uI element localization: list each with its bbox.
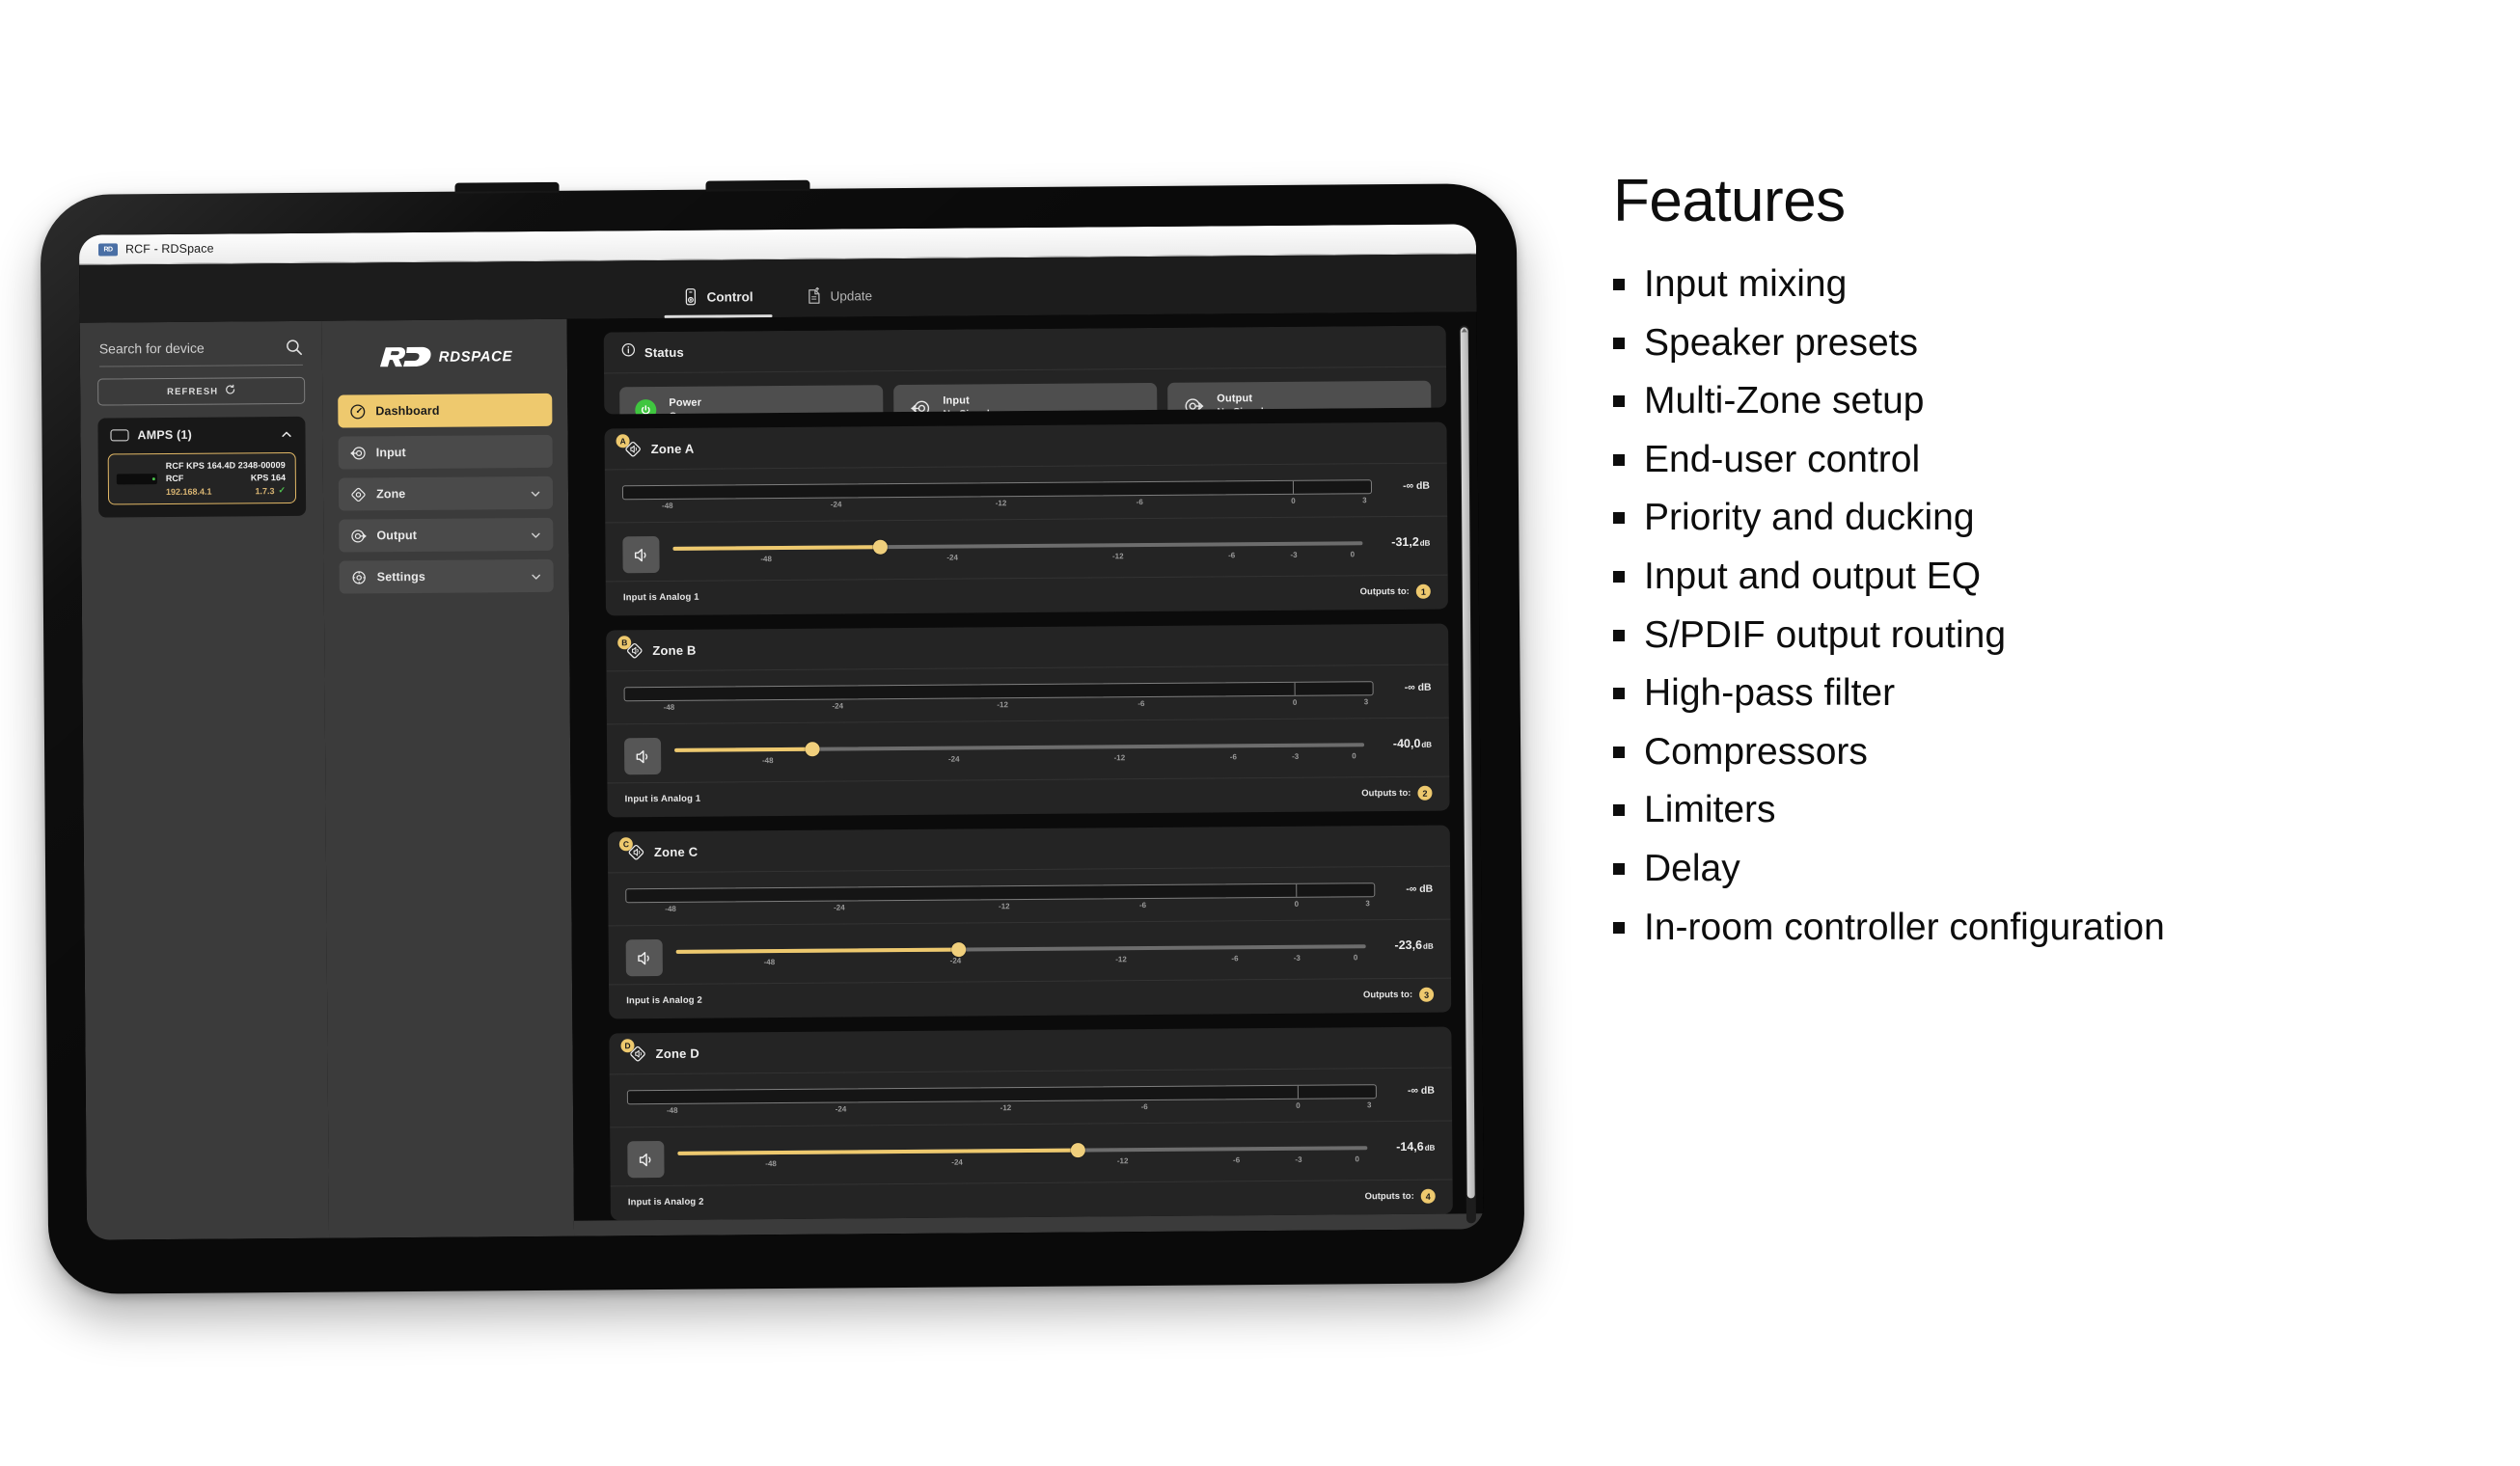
zone-volume-fill (674, 747, 812, 752)
zone-card-header: B Zone B (606, 624, 1448, 672)
features-list: Input mixing Speaker presets Multi-Zone … (1613, 264, 2481, 948)
rdspace-brand-logo: RDSPACE (338, 331, 552, 383)
slider-tick: -3 (1290, 551, 1297, 559)
feature-item-label: End-user control (1644, 440, 1920, 480)
slider-tick: -12 (1117, 1156, 1129, 1165)
feature-item-label: Compressors (1644, 732, 1868, 773)
zone-input-label: Input is Analog 2 (628, 1197, 704, 1208)
device-title: RCF KPS 164.4D 2348-00009 (166, 460, 286, 471)
amps-group-label: AMPS (1) (137, 427, 271, 442)
feature-item: High-pass filter (1613, 673, 2481, 714)
feature-item: Speaker presets (1613, 323, 2481, 364)
zone-volume-scale: -48-24-12-6-30 (673, 550, 1363, 570)
nav-item-output-label: Output (376, 528, 520, 542)
nav-item-output[interactable]: Output (339, 518, 553, 553)
feature-item: In-room controller configuration (1613, 908, 2481, 948)
zone-volume-knob[interactable] (806, 742, 820, 756)
feature-item-label: Multi-Zone setup (1644, 381, 1924, 421)
window-title: RCF - RDSpace (125, 242, 214, 257)
status-power-value: On (669, 411, 701, 415)
meter-tick: -24 (831, 501, 842, 509)
zone-output-badge: 4 (1421, 1189, 1436, 1204)
zone-meter: -48-24-12-603 (627, 1084, 1377, 1121)
meter-tick: 0 (1295, 900, 1300, 909)
bullet-icon (1613, 747, 1625, 758)
meter-tick: 3 (1362, 496, 1367, 504)
bullet-icon (1613, 688, 1625, 699)
bullet-icon (1613, 922, 1625, 934)
feature-item: End-user control (1613, 440, 2481, 480)
device-control-icon (684, 288, 698, 306)
zone-footer: Input is Analog 1 Outputs to: 2 (607, 777, 1449, 818)
zone-volume-row: -48-24-12-6-30 -14,6dB (610, 1122, 1452, 1187)
input-target-icon (909, 397, 930, 415)
zone-diamond-icon (350, 486, 367, 502)
device-model: KPS 164 (251, 473, 286, 482)
bullet-icon (1613, 279, 1625, 290)
zone-mute-button[interactable] (626, 939, 663, 976)
slider-tick: 0 (1355, 1154, 1359, 1163)
status-input-value: No Signal (943, 408, 990, 414)
status-power-label: Power (669, 397, 701, 409)
zone-title: Zone D (656, 1045, 699, 1060)
features-title: Features (1613, 172, 2481, 231)
feature-item-label: In-room controller configuration (1644, 908, 2165, 948)
meter-tick: -12 (996, 499, 1007, 507)
zone-outputs-label: Outputs to: (1363, 990, 1412, 1000)
feature-item: Delay (1613, 849, 2481, 889)
feature-item-label: Priority and ducking (1644, 498, 1975, 538)
power-icon (635, 399, 656, 414)
zone-outputs: Outputs to: 1 (1360, 584, 1431, 600)
nav-item-zone[interactable]: Zone (339, 476, 553, 511)
meter-tick: 3 (1365, 899, 1370, 908)
zone-meter-row: -48-24-12-603 -∞ dB (607, 665, 1449, 725)
feature-item: Input and output EQ (1613, 557, 2481, 597)
slider-tick: -12 (1112, 552, 1124, 560)
feature-item-label: Input and output EQ (1644, 557, 1981, 597)
zone-meter: -48-24-12-603 (624, 681, 1374, 718)
amp-chip-icon (110, 429, 128, 441)
bullet-icon (1613, 571, 1625, 583)
nav-item-zone-label: Zone (376, 486, 520, 501)
status-tile-output[interactable]: Output No Signal (1167, 381, 1431, 415)
meter-tick: -6 (1137, 699, 1144, 708)
feature-item-label: S/PDIF output routing (1644, 615, 2006, 656)
slider-tick: -3 (1295, 1155, 1301, 1164)
meter-tick: -12 (999, 902, 1010, 910)
nav-panel: RDSPACE Dashboard (322, 319, 574, 1238)
meter-tick: -6 (1141, 1102, 1148, 1111)
amps-group-panel: AMPS (1) RCF KPS 164.4D 2348-00009 (97, 417, 306, 518)
slider-tick: -3 (1294, 954, 1301, 963)
output-target-icon (350, 528, 367, 544)
zone-meter-value: -∞ dB (1388, 882, 1433, 895)
status-tile-input[interactable]: Input No Signal (893, 383, 1157, 414)
status-output-label: Output (1217, 393, 1264, 404)
bullet-icon (1613, 512, 1625, 524)
feature-item: Priority and ducking (1613, 498, 2481, 538)
zone-outputs: Outputs to: 2 (1361, 786, 1432, 801)
slider-tick: 0 (1354, 953, 1358, 962)
meter-tick: -6 (1139, 901, 1146, 909)
feature-item: Limiters (1613, 790, 2481, 830)
slider-tick: -24 (951, 1158, 963, 1167)
bullet-icon (1613, 395, 1625, 407)
nav-item-input-label: Input (376, 445, 541, 459)
bullet-icon (1613, 863, 1625, 875)
zone-volume-knob[interactable] (872, 540, 887, 555)
meter-tick: -48 (665, 905, 676, 913)
zone-outputs: Outputs to: 4 (1365, 1189, 1436, 1205)
info-circle-icon (621, 342, 636, 362)
zone-volume-scale: -48-24-12-6-30 (676, 953, 1366, 973)
nav-item-dashboard-label: Dashboard (375, 403, 540, 418)
slider-tick: -6 (1231, 954, 1238, 963)
chevron-down-icon[interactable] (530, 529, 541, 540)
meter-tick: 0 (1296, 1101, 1301, 1110)
meter-tick: -48 (664, 703, 675, 712)
zone-footer: Input is Analog 1 Outputs to: 1 (606, 576, 1448, 616)
feature-item-label: High-pass filter (1644, 673, 1895, 714)
meter-tick: -24 (835, 1104, 847, 1113)
zone-meter-value: -∞ dB (1385, 479, 1430, 492)
zone-volume-slider[interactable]: -48-24-12-6-30 (676, 934, 1366, 973)
gear-icon (351, 569, 368, 585)
nav-item-input[interactable]: Input (339, 435, 553, 470)
zone-card-header: C Zone C (608, 826, 1450, 874)
zone-card-header: A Zone A (605, 422, 1447, 471)
meter-tick: 3 (1367, 1100, 1372, 1109)
zone-mute-button[interactable] (624, 738, 661, 774)
zone-volume-value: -31,2dB (1376, 530, 1430, 549)
amps-group-header[interactable]: AMPS (1) (107, 427, 295, 443)
output-target-icon (1183, 395, 1204, 415)
feature-item-label: Speaker presets (1644, 323, 1918, 364)
zone-volume-scale: -48-24-12-6-30 (678, 1154, 1368, 1175)
search-icon[interactable] (286, 339, 303, 356)
input-target-icon (350, 445, 367, 461)
zone-outputs: Outputs to: 3 (1363, 988, 1434, 1003)
device-card[interactable]: RCF KPS 164.4D 2348-00009 RCF KPS 164 19… (108, 452, 296, 505)
zones-container: A Zone A -48-24-12-603 -∞ dB (605, 422, 1453, 1221)
rdspace-app-window: RD RCF - RDSpace Control (79, 224, 1484, 1239)
meter-tick: -48 (667, 1106, 678, 1115)
slider-tick: -48 (760, 555, 772, 563)
zone-volume-knob[interactable] (951, 942, 966, 957)
slider-tick: -6 (1230, 752, 1237, 761)
feature-item-label: Delay (1644, 849, 1740, 889)
zone-volume-track[interactable] (677, 1146, 1367, 1155)
feature-item-label: Limiters (1644, 790, 1776, 830)
zone-volume-fill (676, 948, 959, 954)
meter-tick: -48 (662, 502, 673, 510)
tablet-screen: RD RCF - RDSpace Control (79, 224, 1484, 1239)
zone-title: Zone C (654, 844, 698, 858)
chevron-down-icon[interactable] (530, 487, 541, 499)
zone-volume-scale: -48-24-12-6-30 (674, 751, 1364, 772)
refresh-button[interactable]: REFRESH (97, 377, 305, 406)
zone-output-badge: 1 (1416, 584, 1431, 599)
slider-tick: -12 (1114, 753, 1126, 762)
zone-title: Zone A (651, 441, 695, 455)
zone-mute-button[interactable] (627, 1141, 664, 1178)
device-sidebar: REFRESH AMPS (1) (80, 321, 330, 1240)
device-brand: RCF (166, 474, 184, 483)
tablet-volume-up-button[interactable] (454, 182, 559, 194)
zone-volume-row: -48-24-12-6-30 -23,6dB (609, 920, 1451, 986)
features-section: Features Input mixing Speaker presets Mu… (1613, 172, 2481, 965)
nav-item-settings-label: Settings (377, 569, 521, 584)
zone-volume-knob[interactable] (1071, 1143, 1085, 1157)
zone-title: Zone B (652, 642, 696, 657)
zone-volume-slider[interactable]: -48-24-12-6-30 (672, 530, 1362, 570)
zone-meter-value: -∞ dB (1387, 681, 1432, 693)
main-scroll-area: Status (567, 325, 1484, 1220)
dashboard-gauge-icon (349, 403, 366, 420)
zone-meter-row: -48-24-12-603 -∞ dB (608, 867, 1450, 927)
slider-tick: -48 (765, 1159, 777, 1168)
zone-outputs-label: Outputs to: (1360, 586, 1410, 597)
zone-meter: -48-24-12-603 (625, 882, 1375, 919)
feature-item: Compressors (1613, 732, 2481, 773)
document-upload-icon (808, 287, 822, 305)
slider-tick: -12 (1115, 955, 1127, 964)
chevron-down-icon[interactable] (531, 570, 542, 582)
zone-input-label: Input is Analog 1 (625, 794, 701, 805)
zone-volume-slider[interactable]: -48-24-12-6-30 (674, 732, 1364, 772)
refresh-button-label: REFRESH (167, 386, 218, 396)
tablet-volume-down-button[interactable] (705, 180, 809, 192)
slider-tick: -3 (1292, 752, 1299, 761)
zone-card: A Zone A -48-24-12-603 -∞ dB (605, 422, 1448, 616)
slider-tick: 0 (1352, 751, 1356, 760)
zone-volume-row: -48-24-12-6-30 -31,2dB (605, 517, 1447, 583)
feature-item: Multi-Zone setup (1613, 381, 2481, 421)
feature-item: S/PDIF output routing (1613, 615, 2481, 656)
meter-tick: 0 (1293, 698, 1298, 707)
tab-update-label: Update (831, 288, 873, 303)
zone-volume-fill (677, 1149, 1078, 1155)
rcf-logo-icon: RD (98, 243, 118, 256)
slider-tick: -24 (950, 957, 962, 965)
slider-tick: -48 (764, 958, 776, 966)
device-ip-address: 192.168.4.1 (166, 486, 212, 496)
status-card-title: Status (644, 344, 684, 359)
zone-meter: -48-24-12-603 (622, 479, 1372, 516)
status-card: Status (604, 326, 1447, 415)
meter-tick: 0 (1291, 497, 1296, 505)
slider-tick: 0 (1351, 550, 1356, 558)
meter-tick: 3 (1364, 697, 1369, 706)
main-content: Status (567, 312, 1484, 1235)
bullet-icon (1613, 804, 1625, 816)
zone-card: B Zone B -48-24-12-603 -∞ dB (606, 624, 1449, 818)
zone-card-header: D Zone D (609, 1027, 1451, 1075)
status-output-value: No Signal (1217, 406, 1264, 414)
tab-update[interactable]: Update (802, 286, 879, 317)
rdspace-brand-word: RDSPACE (439, 348, 513, 366)
tab-control[interactable]: Control (678, 287, 759, 318)
zone-output-badge: 3 (1419, 988, 1434, 1002)
zone-volume-value: -40,0dB (1378, 732, 1432, 750)
meter-tick: -24 (832, 702, 843, 711)
bullet-icon (1613, 454, 1625, 466)
device-ip-fw-row: 192.168.4.1 1.7.3 ✓ (166, 485, 286, 497)
chevron-up-icon[interactable] (281, 427, 293, 440)
zone-outputs-label: Outputs to: (1361, 788, 1411, 799)
device-brand-model-row: RCF KPS 164 (166, 473, 286, 483)
zone-volume-fill (673, 545, 880, 551)
device-firmware-version: 1.7.3 (255, 486, 274, 496)
bullet-icon (1613, 338, 1625, 349)
tablet-device: RD RCF - RDSpace Control (41, 183, 1525, 1294)
zone-input-label: Input is Analog 1 (623, 592, 699, 604)
tab-control-label: Control (707, 289, 753, 304)
slider-tick: -24 (946, 554, 958, 562)
zone-volume-value: -14,6dB (1381, 1135, 1435, 1154)
nav-item-dashboard[interactable]: Dashboard (338, 394, 552, 428)
meter-tick: -12 (997, 700, 1008, 709)
device-info: RCF KPS 164.4D 2348-00009 RCF KPS 164 19… (166, 460, 286, 497)
app-body: REFRESH AMPS (1) (80, 312, 1484, 1239)
scrollbar-up-arrow-icon[interactable] (1462, 328, 1467, 332)
zone-meter-row: -48-24-12-603 -∞ dB (605, 464, 1447, 524)
zone-input-label: Input is Analog 2 (626, 995, 702, 1007)
zone-meter-row: -48-24-12-603 -∞ dB (610, 1069, 1452, 1128)
nav-item-settings[interactable]: Settings (340, 559, 554, 594)
zone-meter-value: -∞ dB (1390, 1084, 1435, 1097)
zone-volume-value: -23,6dB (1380, 934, 1434, 952)
status-input-label: Input (943, 394, 990, 406)
meter-tick: -12 (1000, 1103, 1012, 1112)
zone-output-badge: 2 (1417, 786, 1432, 801)
device-status-check-icon: ✓ (278, 485, 286, 496)
feature-item: Input mixing (1613, 264, 2481, 305)
zone-volume-row: -48-24-12-6-30 -40,0dB (607, 719, 1449, 784)
meter-tick: -6 (1137, 498, 1143, 506)
status-card-header: Status (604, 326, 1446, 374)
slider-tick: -6 (1228, 551, 1235, 559)
search-input[interactable] (99, 339, 244, 356)
zone-volume-track[interactable] (674, 743, 1364, 752)
zone-footer: Input is Analog 2 Outputs to: 3 (609, 979, 1451, 1019)
zone-outputs-label: Outputs to: (1365, 1191, 1414, 1202)
meter-tick: -24 (834, 903, 845, 911)
zone-mute-button[interactable] (622, 536, 659, 573)
status-tiles-grid: Power On (604, 367, 1446, 415)
feature-item-label: Input mixing (1644, 264, 1847, 305)
bullet-icon (1613, 630, 1625, 641)
rd-mark-icon (377, 344, 437, 369)
zone-volume-track[interactable] (676, 944, 1366, 954)
status-tile-power[interactable]: Power On (619, 385, 883, 414)
search-row (97, 337, 305, 366)
refresh-icon (225, 384, 235, 397)
zone-volume-track[interactable] (673, 541, 1363, 551)
slider-tick: -6 (1233, 1155, 1240, 1164)
slider-tick: -24 (948, 755, 960, 764)
top-tab-bar: Control Update (79, 254, 1476, 322)
zone-card: C Zone C -48-24-12-603 -∞ dB (608, 826, 1451, 1019)
device-thumbnail-icon (117, 474, 157, 484)
zone-card: D Zone D -48-24-12-603 -∞ dB (609, 1027, 1452, 1221)
slider-tick: -48 (762, 756, 774, 765)
zone-volume-slider[interactable]: -48-24-12-6-30 (677, 1135, 1367, 1175)
